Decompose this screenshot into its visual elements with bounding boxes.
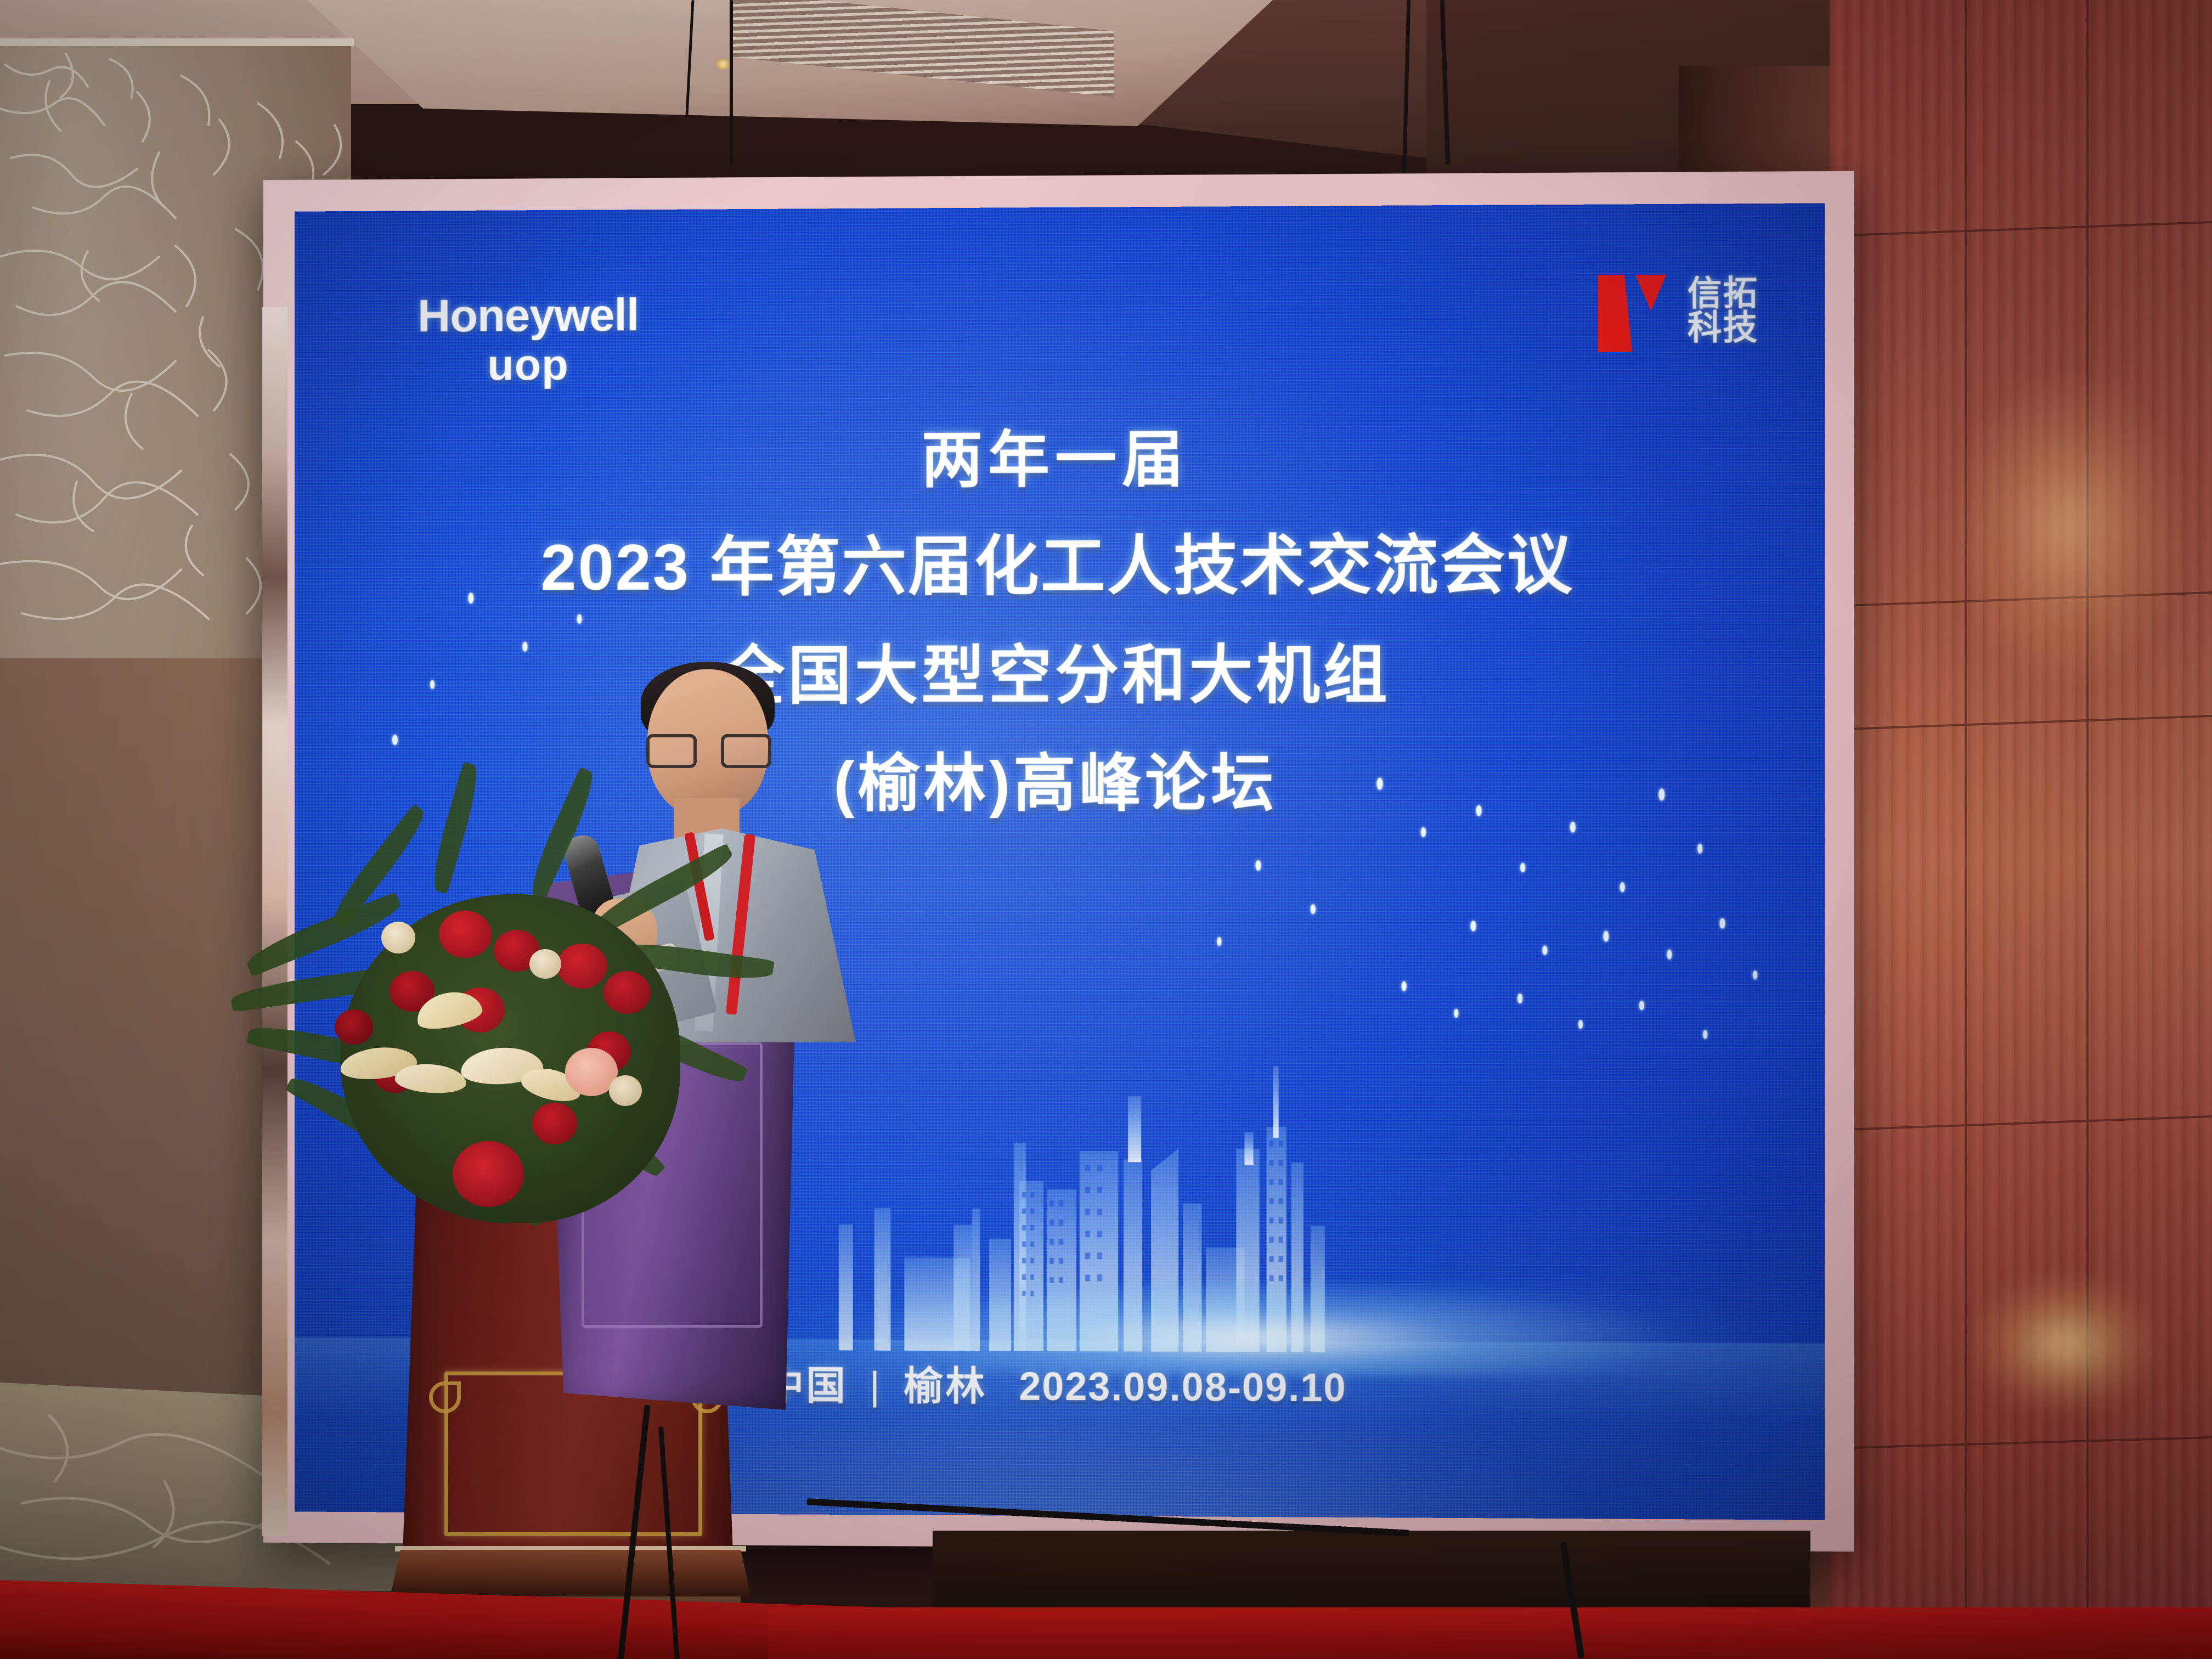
downlight-icon bbox=[716, 59, 730, 69]
podium-base-molding bbox=[390, 1550, 752, 1599]
floral-arrangement bbox=[258, 812, 779, 1306]
ceiling-trim-molding bbox=[0, 38, 354, 46]
hanging-cable bbox=[730, 0, 733, 165]
wood-panel-seams bbox=[1830, 0, 2212, 1659]
glasses-icon bbox=[646, 734, 771, 770]
scroll-ornament-icon bbox=[429, 1381, 461, 1413]
red-carpet-right bbox=[768, 1607, 2212, 1659]
wall-light-reflection bbox=[1953, 373, 2183, 680]
wall-light-reflection-lower bbox=[1975, 1278, 2156, 1410]
conference-stage-photo: Honeywell uop 信拓 科技 两年一届 2023 年第六届化工人技术交… bbox=[0, 0, 2212, 1659]
